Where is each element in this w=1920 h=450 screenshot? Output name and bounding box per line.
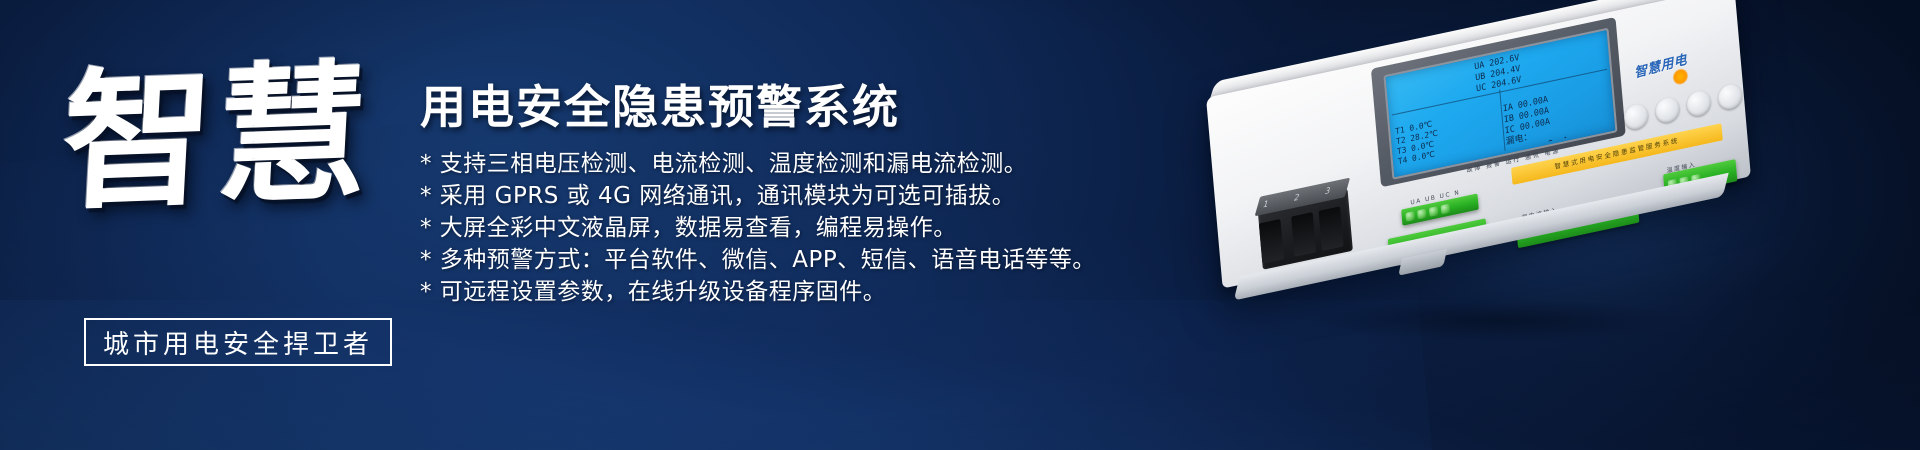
product-photo: UA 202.6V UB 204.4V UC 204.6V T1 0.0℃ T2… bbox=[1090, 0, 1920, 450]
promo-banner: 智慧 城市用电安全捍卫者 用电安全隐患预警系统 * 支持三相电压检测、电流检测、… bbox=[0, 0, 1920, 450]
connector-pin bbox=[1319, 206, 1344, 251]
tagline-box: 城市用电安全捍卫者 bbox=[84, 318, 392, 366]
terminal-screw bbox=[1441, 203, 1451, 214]
device-button-set[interactable] bbox=[1686, 89, 1712, 118]
feature-list: * 支持三相电压检测、电流检测、温度检测和漏电流检测。 * 采用 GPRS 或 … bbox=[420, 148, 1120, 308]
device-button-confirm[interactable] bbox=[1717, 82, 1743, 111]
connector-pin bbox=[1259, 219, 1284, 264]
list-item: * 可远程设置参数，在线升级设备程序固件。 bbox=[420, 276, 1120, 308]
list-item: * 多种预警方式：平台软件、微信、APP、短信、语音电话等等。 bbox=[420, 244, 1120, 276]
device-button-query[interactable] bbox=[1655, 96, 1681, 125]
page-title: 用电安全隐患预警系统 bbox=[420, 82, 1120, 134]
calligraphy-title: 智慧 bbox=[55, 6, 410, 288]
terminal-screw bbox=[1405, 210, 1415, 221]
device-button-mute[interactable] bbox=[1623, 102, 1649, 131]
list-item: * 大屏全彩中文液晶屏，数据易查看，编程易操作。 bbox=[420, 212, 1120, 244]
list-item: * 采用 GPRS 或 4G 网络通讯，通讯模块为可选可插拔。 bbox=[420, 180, 1120, 212]
terminal-screw bbox=[1417, 208, 1427, 219]
copy-block: 用电安全隐患预警系统 * 支持三相电压检测、电流检测、温度检测和漏电流检测。 *… bbox=[420, 82, 1120, 308]
tagline-text: 城市用电安全捍卫者 bbox=[103, 324, 373, 361]
brand-block: 智慧 城市用电安全捍卫者 bbox=[62, 18, 402, 358]
connector-pin bbox=[1291, 212, 1316, 257]
device-housing: UA 202.6V UB 204.4V UC 204.6V T1 0.0℃ T2… bbox=[1206, 0, 1774, 329]
terminal-screw bbox=[1429, 205, 1439, 216]
list-item: * 支持三相电压检测、电流检测、温度检测和漏电流检测。 bbox=[420, 148, 1120, 180]
